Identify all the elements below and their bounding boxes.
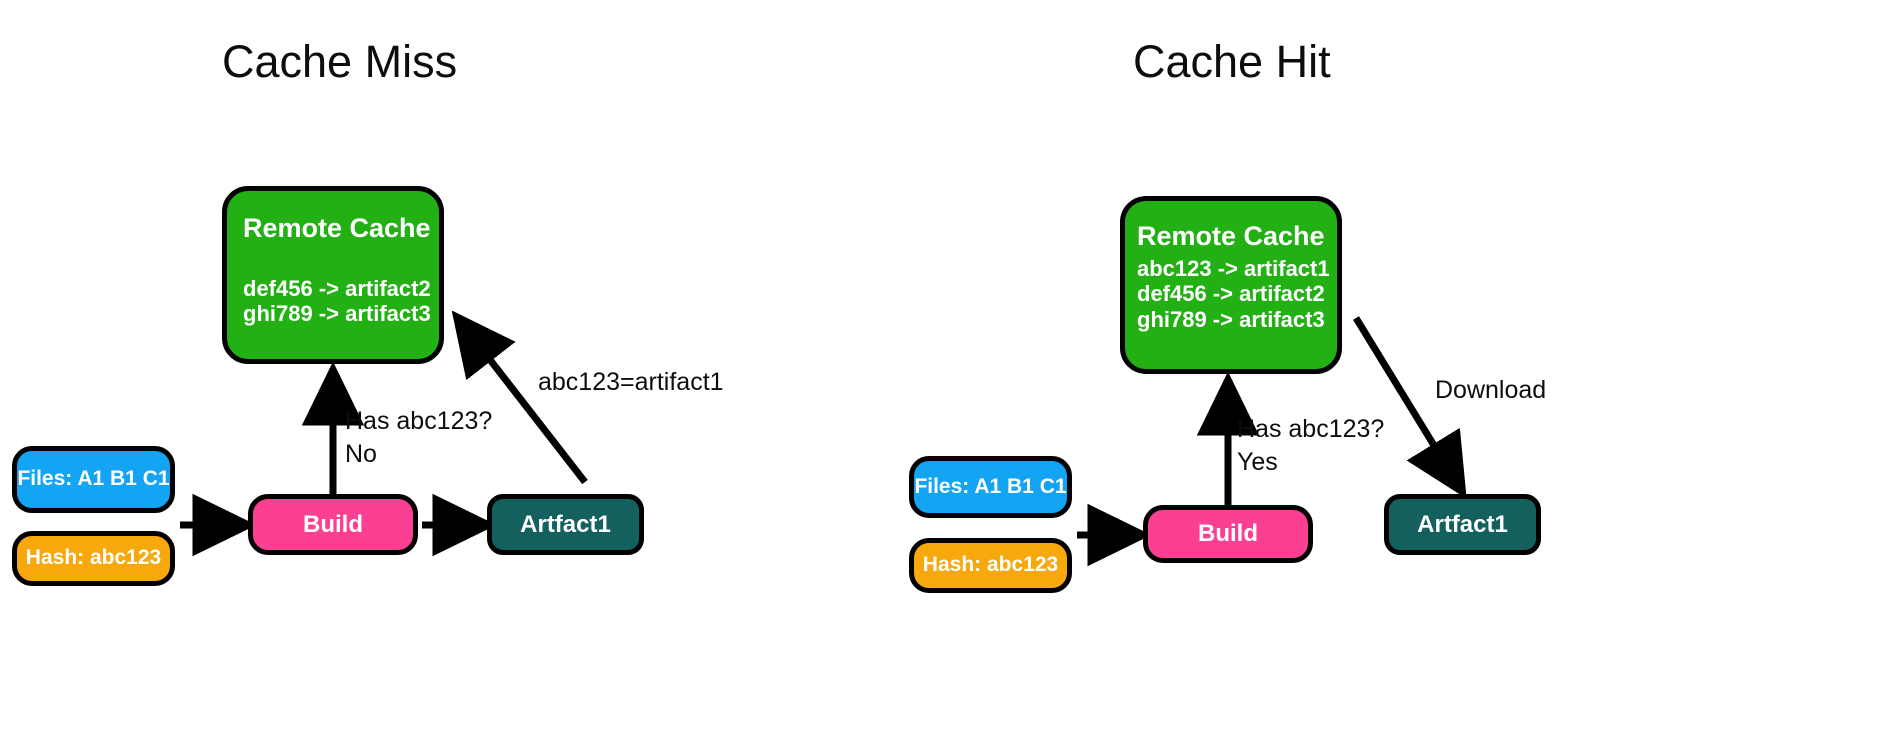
files-box-miss[interactable]: Files: A1 B1 C1 [12,446,175,513]
cache-entry: abc123 -> artifact1 [1137,256,1330,281]
artifact-box-miss[interactable]: Artfact1 [487,494,644,555]
edge-label-has-abc123-no: Has abc123? No [345,405,492,470]
panel-title-cache-miss: Cache Miss [222,36,457,88]
cache-entry: def456 -> artifact2 [243,276,431,301]
arrows-cache-miss [0,0,947,746]
panel-cache-hit: Cache Hit Remote Cache abc123 -> artifac… [947,0,1894,746]
files-label: Files: A1 B1 C1 [914,475,1066,499]
arrows-cache-hit [947,0,1894,746]
build-label: Build [1198,520,1258,548]
cache-entry: ghi789 -> artifact3 [243,301,431,326]
hash-label: Hash: abc123 [26,546,161,570]
artifact-label: Artfact1 [520,511,611,539]
remote-cache-title: Remote Cache [1137,221,1325,252]
panel-title-cache-hit: Cache Hit [1133,36,1331,88]
files-label: Files: A1 B1 C1 [17,467,169,491]
remote-cache-title: Remote Cache [243,213,431,244]
hash-box-hit[interactable]: Hash: abc123 [909,538,1072,593]
hash-box-miss[interactable]: Hash: abc123 [12,531,175,586]
artifact-box-hit[interactable]: Artfact1 [1384,494,1541,555]
panel-cache-miss: Cache Miss Remote Cache def456 -> artifa… [0,0,947,746]
remote-cache-box-hit[interactable]: Remote Cache abc123 -> artifact1 def456 … [1120,196,1342,374]
remote-cache-box-miss[interactable]: Remote Cache def456 -> artifact2 ghi789 … [222,186,444,364]
files-box-hit[interactable]: Files: A1 B1 C1 [909,456,1072,518]
edge-label-download: Download [1435,374,1546,407]
build-box-miss[interactable]: Build [248,494,418,555]
hash-label: Hash: abc123 [923,553,1058,577]
edge-label-has-abc123-yes: Has abc123? Yes [1237,413,1384,478]
edge-label-abc123-artifact1: abc123=artifact1 [538,366,724,399]
cache-entry: def456 -> artifact2 [1137,281,1325,306]
build-box-hit[interactable]: Build [1143,505,1313,563]
artifact-label: Artfact1 [1417,511,1508,539]
cache-entry: ghi789 -> artifact3 [1137,307,1325,332]
build-label: Build [303,511,363,539]
